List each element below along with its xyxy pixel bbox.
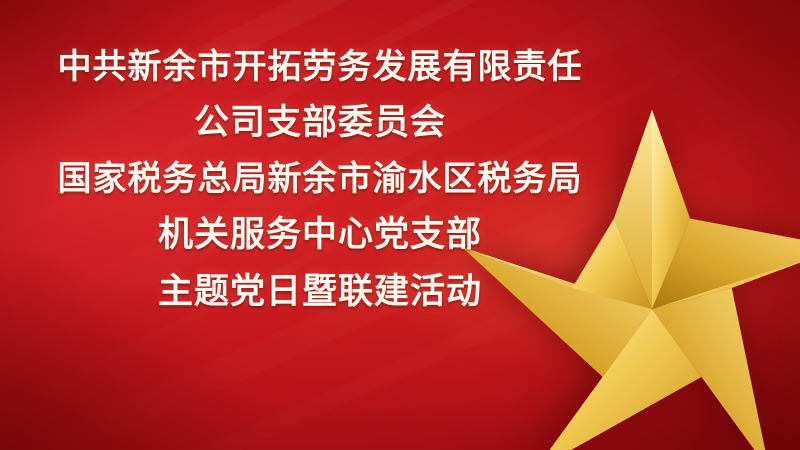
headline-line-4: 机关服务中心党支部	[0, 207, 640, 264]
headline-block: 中共新余市开拓劳务发展有限责任 公司支部委员会 国家税务总局新余市渝水区税务局 …	[0, 40, 640, 320]
poster-canvas: 中共新余市开拓劳务发展有限责任 公司支部委员会 国家税务总局新余市渝水区税务局 …	[0, 0, 800, 450]
headline-line-5: 主题党日暨联建活动	[0, 264, 640, 321]
headline-line-2: 公司支部委员会	[0, 95, 640, 152]
headline-line-1: 中共新余市开拓劳务发展有限责任	[0, 40, 640, 95]
headline-line-3: 国家税务总局新余市渝水区税务局	[0, 152, 640, 207]
